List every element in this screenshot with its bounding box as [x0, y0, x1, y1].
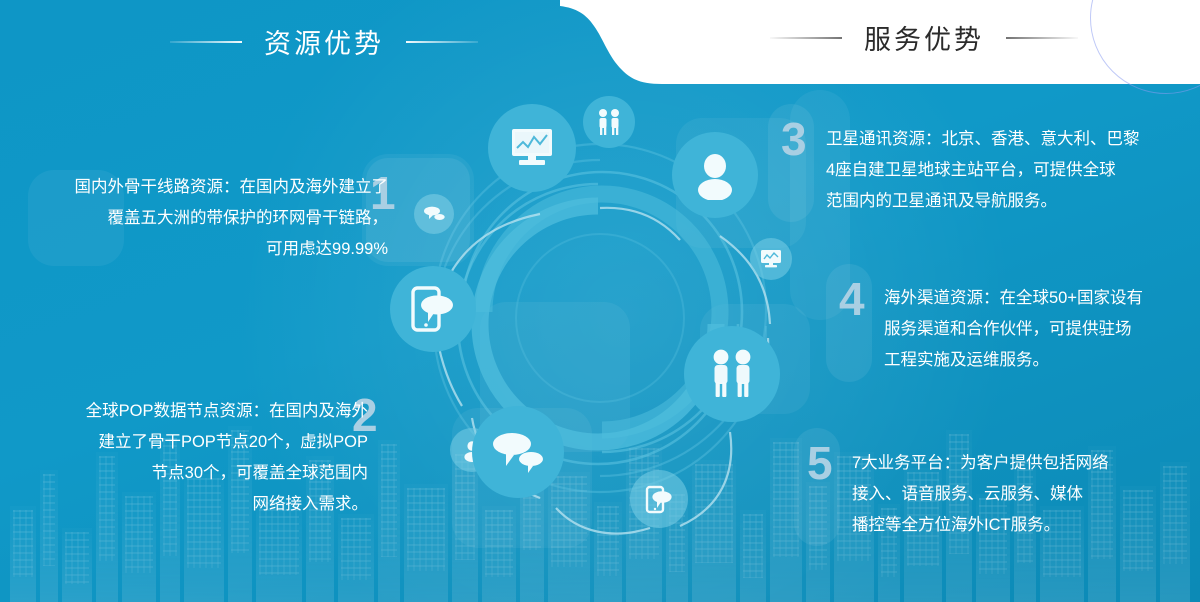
node-monitor-chart [488, 104, 576, 192]
item-line: 全球POP数据节点资源：在国内及海外 [18, 396, 368, 427]
item-line: 可用虑达99.99% [18, 234, 388, 265]
title-rule-right [406, 41, 478, 43]
item-line: 范围内的卫星通讯及导航服务。 [826, 186, 1140, 217]
two-people-large-icon [703, 345, 761, 403]
item-line: 工程实施及运维服务。 [884, 345, 1143, 376]
item-number-5: 5 [807, 440, 833, 486]
item-number-4: 4 [839, 276, 865, 322]
speech-bubbles-icon [489, 424, 547, 480]
node-two-people [583, 96, 635, 148]
item-line: 覆盖五大洲的带保护的环网骨干链路， [18, 203, 388, 234]
service-item-3: 卫星通讯资源：北京、香港、意大利、巴黎 4座自建卫星地球主站平台，可提供全球 范… [826, 124, 1140, 217]
node-monitor-small [750, 238, 792, 280]
item-line: 4座自建卫星地球主站平台，可提供全球 [826, 155, 1140, 186]
item-line: 网络接入需求。 [18, 489, 368, 520]
item-line: 国内外骨干线路资源：在国内及海外建立了 [18, 172, 388, 203]
service-item-4: 海外渠道资源：在全球50+国家设有 服务渠道和合作伙伴，可提供驻场 工程实施及运… [884, 283, 1143, 376]
title-rule-left [770, 37, 842, 39]
item-line: 建立了骨干POP节点20个，虚拟POP [18, 427, 368, 458]
item-line: 海外渠道资源：在全球50+国家设有 [884, 283, 1143, 314]
item-line: 播控等全方位海外ICT服务。 [852, 510, 1109, 541]
item-line: 卫星通讯资源：北京、香港、意大利、巴黎 [826, 124, 1140, 155]
item-line: 接入、语音服务、云服务、媒体 [852, 479, 1109, 510]
monitor-chart-icon [506, 122, 558, 174]
item-line: 服务渠道和合作伙伴，可提供驻场 [884, 314, 1143, 345]
tablet-chat-icon [406, 282, 460, 336]
item-line: 7大业务平台：为客户提供包括网络 [852, 448, 1109, 479]
two-people-icon [593, 106, 625, 138]
title-rule-left [170, 41, 242, 43]
node-two-people-large [684, 326, 780, 422]
item-number-3: 3 [781, 116, 807, 162]
infographic-canvas: 资源优势 服务优势 [0, 0, 1200, 602]
node-speech-bubbles [472, 406, 564, 498]
resource-advantage-title: 资源优势 [170, 22, 478, 61]
person-avatar-icon [690, 150, 740, 200]
monitor-small-icon [758, 246, 784, 272]
resource-item-1: 国内外骨干线路资源：在国内及海外建立了 覆盖五大洲的带保护的环网骨干链路， 可用… [18, 172, 388, 265]
page-title-left: 资源优势 [264, 22, 384, 61]
node-person-avatar [672, 132, 758, 218]
tablet-chat-small-icon [642, 482, 676, 516]
service-advantage-title: 服务优势 [770, 18, 1078, 57]
item-line: 节点30个，可覆盖全球范围内 [18, 458, 368, 489]
node-tablet-chat [390, 266, 476, 352]
page-title-right: 服务优势 [864, 18, 984, 57]
service-item-5: 7大业务平台：为客户提供包括网络 接入、语音服务、云服务、媒体 播控等全方位海外… [852, 448, 1109, 541]
title-rule-right [1006, 37, 1078, 39]
resource-item-2: 全球POP数据节点资源：在国内及海外 建立了骨干POP节点20个，虚拟POP 节… [18, 396, 368, 520]
node-tablet-chat-small [630, 470, 688, 528]
